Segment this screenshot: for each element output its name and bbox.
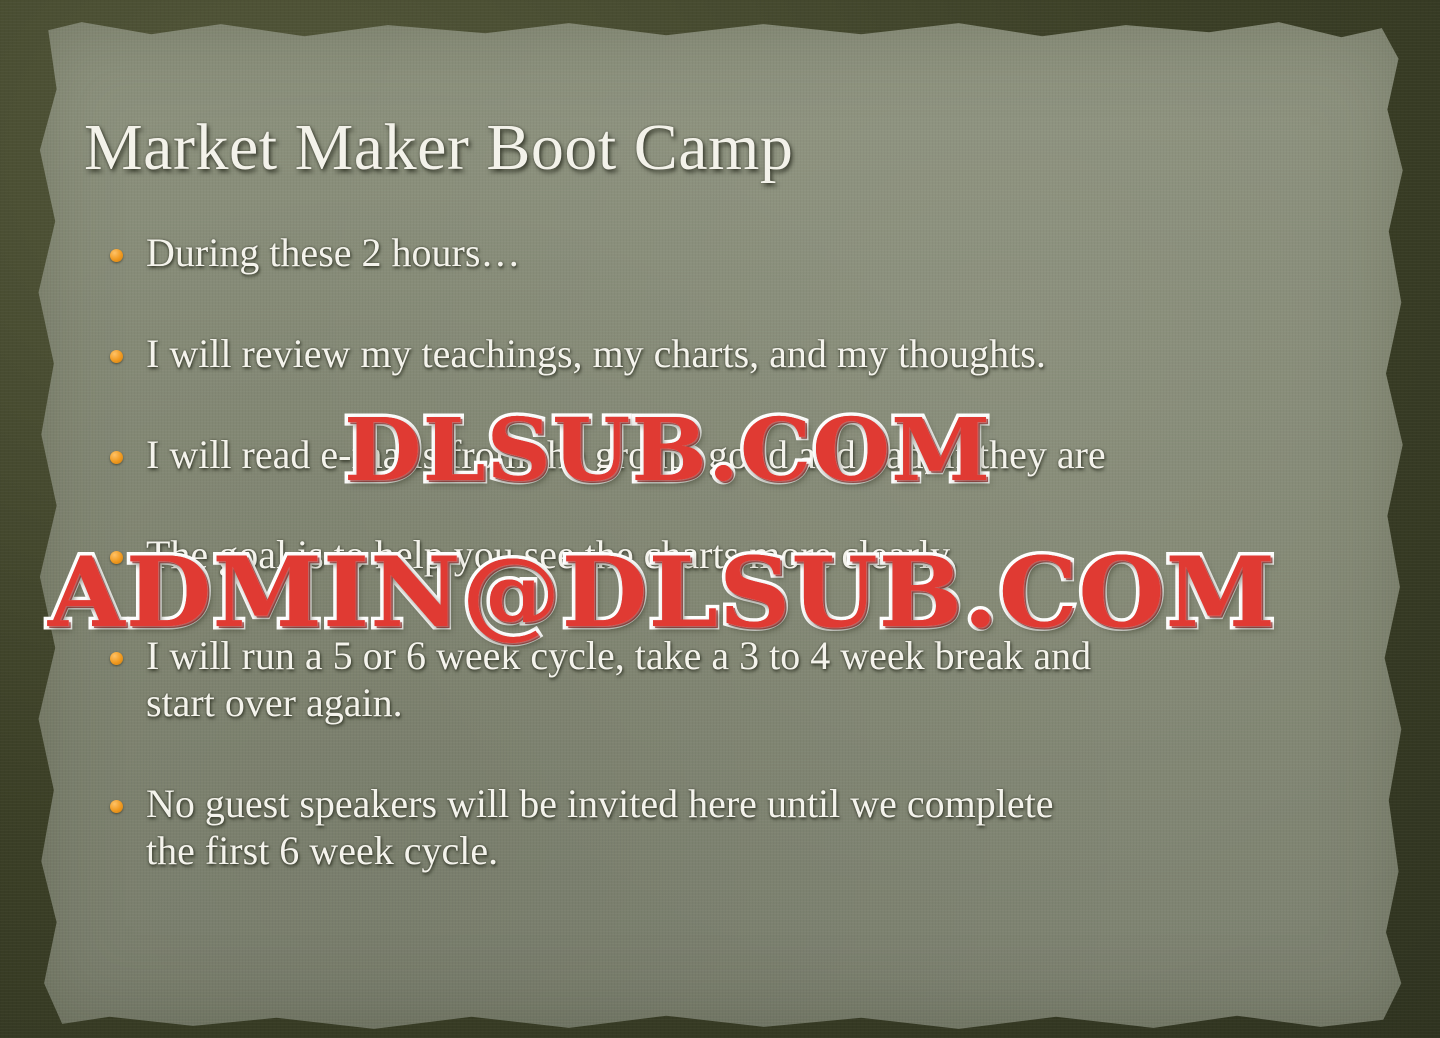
- list-item: I will review my teachings, my charts, a…: [74, 331, 1404, 378]
- orange-dot-icon: [110, 451, 123, 464]
- page-title: Market Maker Boot Camp: [84, 110, 793, 186]
- orange-dot-icon: [110, 800, 123, 813]
- orange-dot-icon: [110, 350, 123, 363]
- list-item: No guest speakers will be invited here u…: [74, 781, 1404, 875]
- list-item-line: start over again.: [146, 680, 1404, 727]
- list-item-line: I will review my teachings, my charts, a…: [146, 331, 1404, 378]
- slide-content: Market Maker Boot Camp During these 2 ho…: [26, 18, 1418, 1034]
- orange-dot-icon: [110, 652, 123, 665]
- watermark-site: DLSUB.COM: [344, 400, 991, 501]
- list-item-line: No guest speakers will be invited here u…: [146, 781, 1404, 828]
- watermark-email: ADMIN@DLSUB.COM: [48, 536, 1276, 649]
- list-item-line: During these 2 hours…: [146, 230, 1404, 277]
- list-item: During these 2 hours…: [74, 230, 1404, 277]
- list-item-line: the first 6 week cycle.: [146, 828, 1404, 875]
- orange-dot-icon: [110, 249, 123, 262]
- presentation-slide: Market Maker Boot Camp During these 2 ho…: [0, 0, 1440, 1038]
